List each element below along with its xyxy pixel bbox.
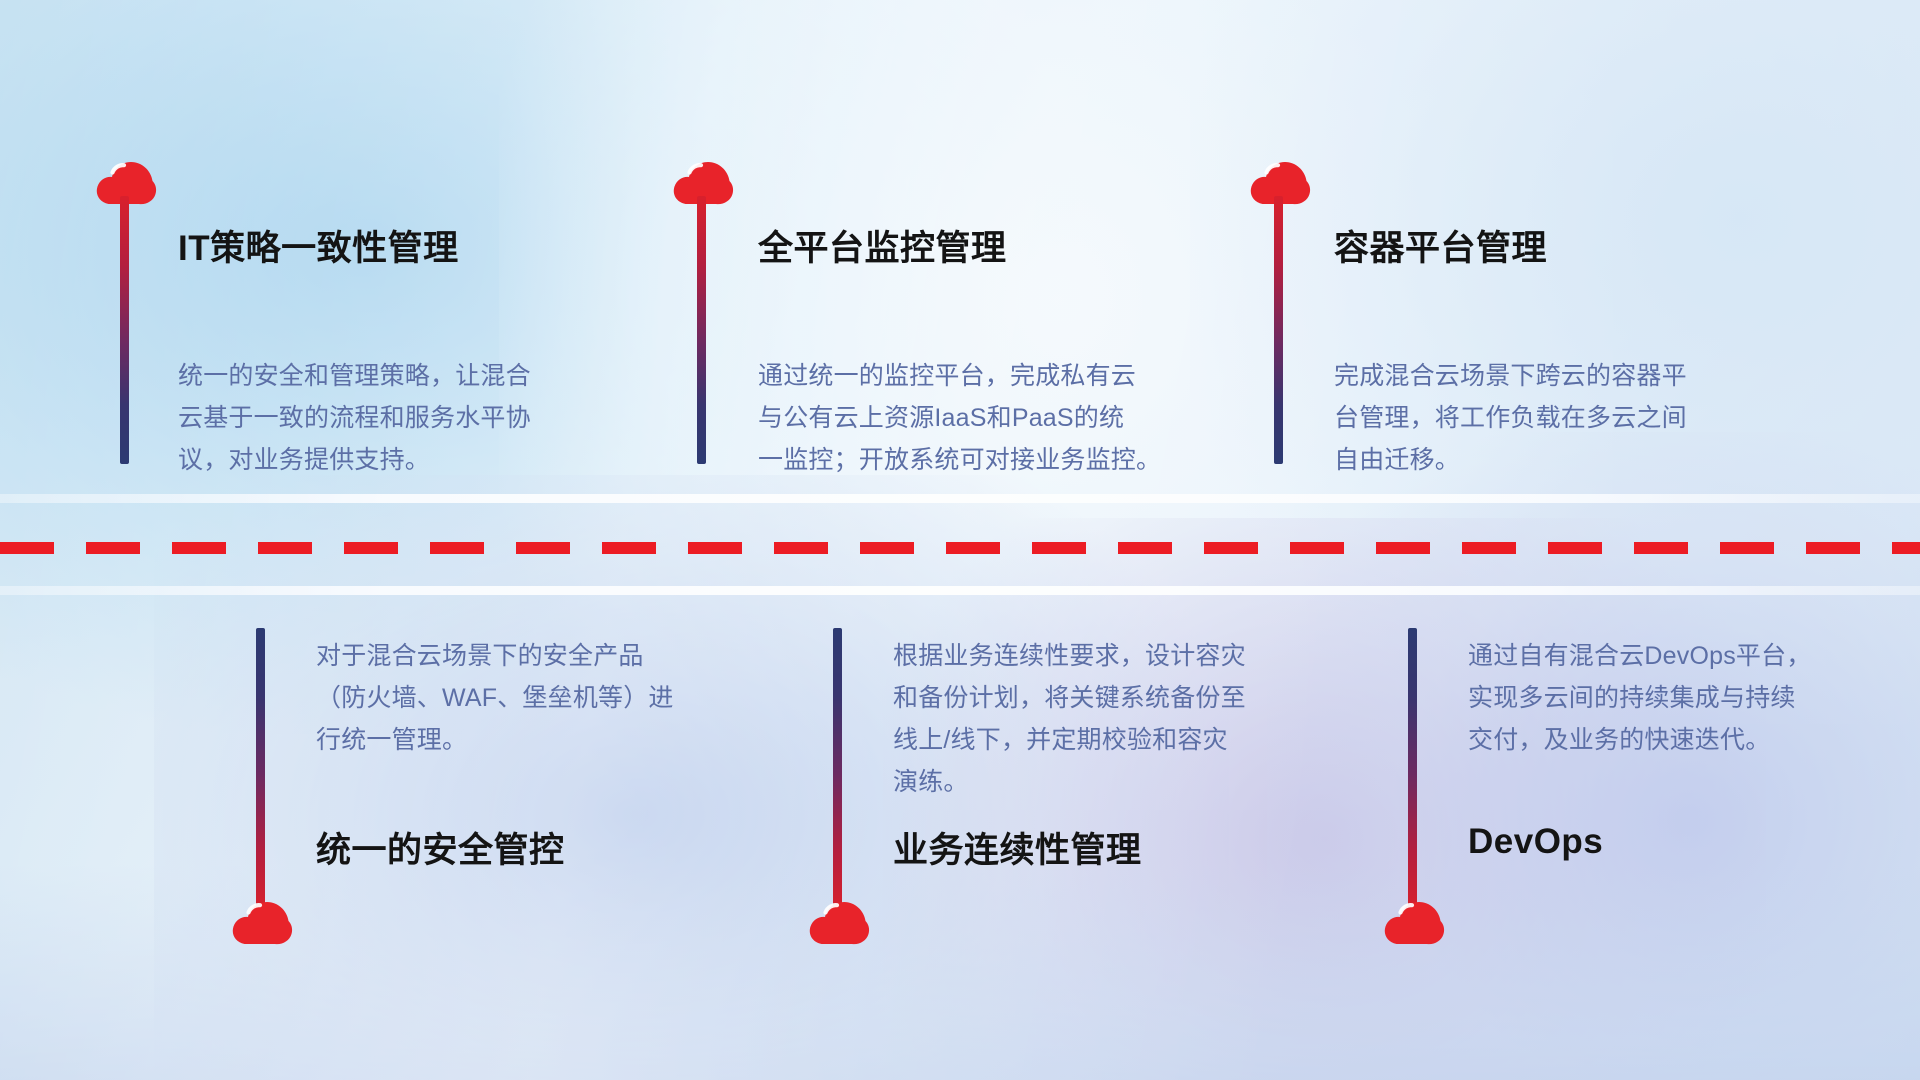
connector-stem — [120, 196, 129, 464]
card-title: 统一的安全管控 — [316, 822, 565, 873]
card-title: 容器平台管理 — [1334, 220, 1547, 271]
card-title: DevOps — [1468, 822, 1603, 862]
card-title: 业务连续性管理 — [893, 822, 1142, 873]
dashed-line — [0, 542, 1920, 554]
divider-dashed-road — [0, 542, 1920, 554]
divider-bar-top — [0, 494, 1920, 503]
card-title: IT策略一致性管理 — [178, 220, 459, 271]
cloud-pin-icon — [231, 900, 293, 946]
connector-stem — [833, 628, 842, 912]
card-title: 全平台监控管理 — [758, 220, 1007, 271]
card-body-text: 通过自有混合云DevOps平台， 实现多云间的持续集成与持续 交付，及业务的快速… — [1468, 635, 1918, 761]
cloud-pin-icon — [808, 900, 870, 946]
connector-stem — [1274, 196, 1283, 464]
connector-stem — [697, 196, 706, 464]
card-body-text: 完成混合云场景下跨云的容器平 台管理，将工作负载在多云之间 自由迁移。 — [1334, 355, 1774, 481]
card-body-text: 统一的安全和管理策略，让混合 云基于一致的流程和服务水平协 议，对业务提供支持。 — [178, 355, 618, 481]
infographic-canvas: IT策略一致性管理 统一的安全和管理策略，让混合 云基于一致的流程和服务水平协 … — [0, 0, 1920, 1080]
card-body-text: 通过统一的监控平台，完成私有云 与公有云上资源IaaS和PaaS的统 一监控；开… — [758, 355, 1218, 481]
connector-stem — [1408, 628, 1417, 912]
divider-bar-bottom — [0, 586, 1920, 595]
connector-stem — [256, 628, 265, 912]
card-body-text: 对于混合云场景下的安全产品 （防火墙、WAF、堡垒机等）进 行统一管理。 — [316, 635, 766, 761]
card-body-text: 根据业务连续性要求，设计容灾 和备份计划，将关键系统备份至 线上/线下，并定期校… — [893, 635, 1343, 803]
cloud-pin-icon — [1383, 900, 1445, 946]
